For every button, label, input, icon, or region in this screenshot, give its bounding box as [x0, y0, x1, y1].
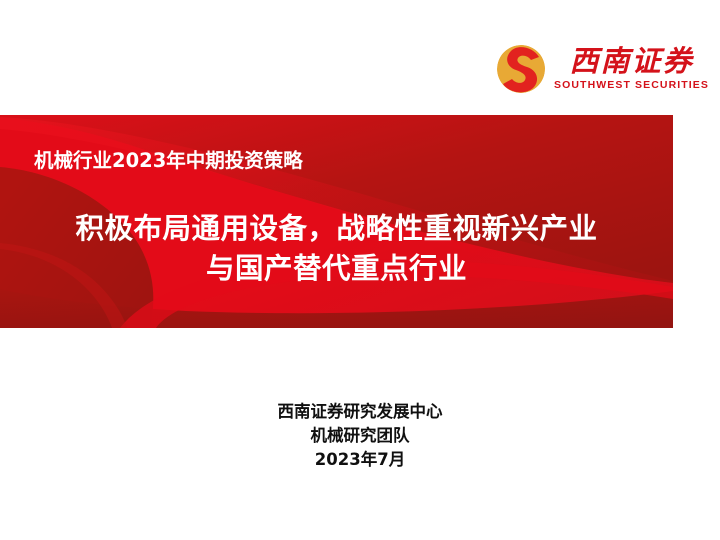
banner-title-line-2: 与国产替代重点行业 — [0, 249, 673, 289]
banner-kicker: 机械行业2023年中期投资策略 — [34, 148, 303, 174]
footer-organization: 西南证券研究发展中心 — [0, 400, 720, 424]
slide-footer: 西南证券研究发展中心 机械研究团队 2023年7月 — [0, 400, 720, 472]
title-banner: 机械行业2023年中期投资策略 积极布局通用设备，战略性重视新兴产业 与国产替代… — [0, 115, 673, 328]
banner-title: 积极布局通用设备，战略性重视新兴产业 与国产替代重点行业 — [0, 209, 673, 289]
footer-team: 机械研究团队 — [0, 424, 720, 448]
logo-name-cn: 西南证券 — [570, 44, 694, 78]
swirl-circle-logo-icon — [496, 44, 546, 94]
footer-date: 2023年7月 — [0, 448, 720, 472]
logo-name-en: SOUTHWEST SECURITIES — [554, 79, 709, 91]
presentation-slide: 西南证券 SOUTHWEST SECURITIES — [0, 0, 720, 540]
banner-title-line-1: 积极布局通用设备，战略性重视新兴产业 — [75, 212, 597, 245]
company-logo: 西南证券 SOUTHWEST SECURITIES — [496, 42, 686, 102]
banner-text-group: 机械行业2023年中期投资策略 积极布局通用设备，战略性重视新兴产业 与国产替代… — [0, 115, 673, 328]
